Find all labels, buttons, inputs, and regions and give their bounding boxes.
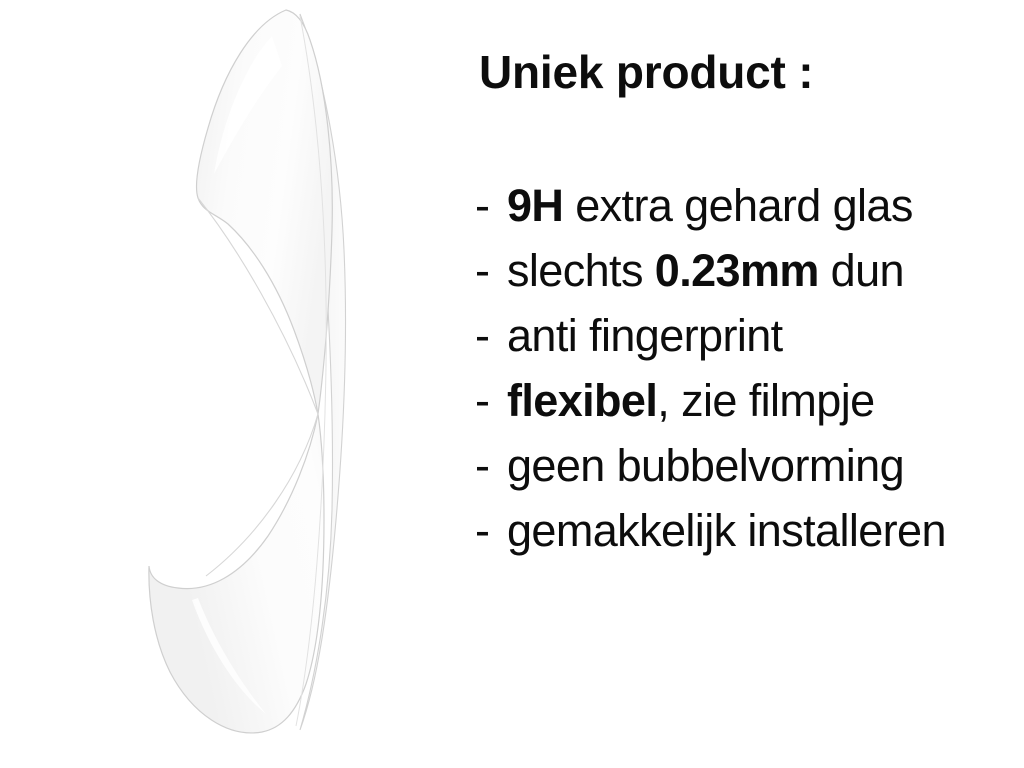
feature-rest: , zie filmpje bbox=[657, 375, 874, 426]
bullet-dash: - bbox=[475, 503, 489, 559]
feature-label: slechts 0.23mm dun bbox=[507, 243, 904, 299]
product-promo-image: Uniek product : - 9H extra gehard glas -… bbox=[0, 0, 1024, 768]
glass-lower-panel bbox=[149, 414, 324, 733]
feature-label: 9H extra gehard glas bbox=[507, 178, 913, 234]
list-item: - 9H extra gehard glas bbox=[460, 178, 1024, 243]
feature-rest: dun bbox=[819, 245, 904, 296]
feature-emphasis: 9H bbox=[507, 180, 563, 231]
bullet-dash: - bbox=[475, 373, 489, 429]
bullet-dash: - bbox=[475, 308, 489, 364]
list-item: - flexibel, zie filmpje bbox=[460, 373, 1024, 438]
bullet-dash: - bbox=[475, 178, 489, 234]
feature-rest: geen bubbelvorming bbox=[507, 440, 904, 491]
feature-rest: anti fingerprint bbox=[507, 310, 783, 361]
product-illustration bbox=[0, 0, 460, 768]
feature-text-column: Uniek product : - 9H extra gehard glas -… bbox=[460, 0, 1024, 768]
feature-rest: extra gehard glas bbox=[563, 180, 912, 231]
bullet-dash: - bbox=[475, 438, 489, 494]
feature-rest: gemakkelijk installeren bbox=[507, 505, 946, 556]
page-title: Uniek product : bbox=[479, 48, 813, 96]
feature-label: geen bubbelvorming bbox=[507, 438, 904, 494]
bullet-dash: - bbox=[475, 243, 489, 299]
feature-emphasis: 0.23mm bbox=[655, 245, 819, 296]
feature-pre: slechts bbox=[507, 245, 655, 296]
list-item: - gemakkelijk installeren bbox=[460, 503, 1024, 568]
feature-emphasis: flexibel bbox=[507, 375, 657, 426]
feature-label: flexibel, zie filmpje bbox=[507, 373, 875, 429]
feature-label: anti fingerprint bbox=[507, 308, 783, 364]
twisted-glass-sheet-graphic bbox=[0, 0, 460, 768]
list-item: - geen bubbelvorming bbox=[460, 438, 1024, 503]
list-item: - anti fingerprint bbox=[460, 308, 1024, 373]
feature-list: - 9H extra gehard glas - slechts 0.23mm … bbox=[460, 178, 1024, 568]
list-item: - slechts 0.23mm dun bbox=[460, 243, 1024, 308]
feature-label: gemakkelijk installeren bbox=[507, 503, 946, 559]
